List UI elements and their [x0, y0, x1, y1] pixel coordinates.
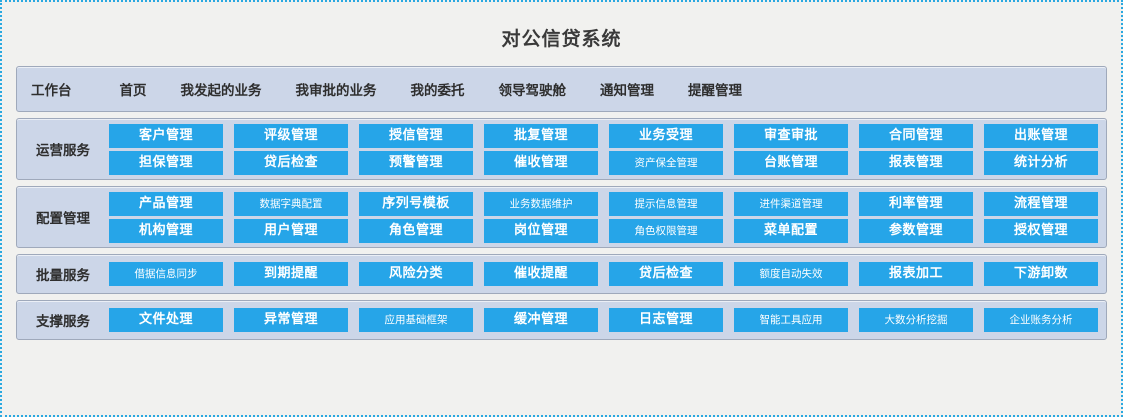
title-bar: 对公信贷系统 [16, 8, 1107, 66]
menu-button-2-6[interactable]: 报表加工 [859, 262, 973, 286]
section-panel-0: 运营服务客户管理评级管理授信管理批复管理业务受理审查审批合同管理出账管理担保管理… [16, 118, 1107, 180]
nav-item-6[interactable]: 通知管理 [600, 79, 654, 99]
menu-button-0-4[interactable]: 业务受理 [609, 124, 723, 148]
menu-button-1-15[interactable]: 授权管理 [984, 219, 1098, 243]
menu-button-0-11[interactable]: 催收管理 [484, 151, 598, 175]
application-frame: 对公信贷系统 工作台首页我发起的业务我审批的业务我的委托领导驾驶舱通知管理提醒管… [0, 0, 1123, 417]
menu-button-2-0[interactable]: 借据信息同步 [109, 262, 223, 286]
menu-button-0-14[interactable]: 报表管理 [859, 151, 973, 175]
section-label-0: 运营服务 [17, 139, 109, 159]
menu-button-0-5[interactable]: 审查审批 [734, 124, 848, 148]
menu-button-0-13[interactable]: 台账管理 [734, 151, 848, 175]
sections-container: 运营服务客户管理评级管理授信管理批复管理业务受理审查审批合同管理出账管理担保管理… [16, 118, 1107, 340]
nav-item-2[interactable]: 我发起的业务 [181, 79, 262, 99]
nav-item-7[interactable]: 提醒管理 [688, 79, 742, 99]
section-button-grid-2: 借据信息同步到期提醒风险分类催收提醒贷后检查额度自动失效报表加工下游卸数 [109, 262, 1098, 286]
menu-button-1-12[interactable]: 角色权限管理 [609, 219, 723, 243]
menu-button-1-13[interactable]: 菜单配置 [734, 219, 848, 243]
section-panel-3: 支撑服务文件处理异常管理应用基础框架缓冲管理日志管理智能工具应用大数分析挖掘企业… [16, 300, 1107, 340]
menu-button-3-2[interactable]: 应用基础框架 [359, 308, 473, 332]
menu-button-3-0[interactable]: 文件处理 [109, 308, 223, 332]
section-label-3: 支撑服务 [17, 310, 109, 330]
menu-button-0-6[interactable]: 合同管理 [859, 124, 973, 148]
menu-button-0-12[interactable]: 资产保全管理 [609, 151, 723, 175]
menu-button-3-1[interactable]: 异常管理 [234, 308, 348, 332]
menu-button-0-9[interactable]: 贷后检查 [234, 151, 348, 175]
menu-button-2-7[interactable]: 下游卸数 [984, 262, 1098, 286]
menu-button-1-3[interactable]: 业务数据维护 [484, 192, 598, 216]
section-label-1: 配置管理 [17, 207, 109, 227]
section-button-grid-3: 文件处理异常管理应用基础框架缓冲管理日志管理智能工具应用大数分析挖掘企业账务分析 [109, 308, 1098, 332]
menu-button-3-6[interactable]: 大数分析挖掘 [859, 308, 973, 332]
section-panel-1: 配置管理产品管理数据字典配置序列号模板业务数据维护提示信息管理进件渠道管理利率管… [16, 186, 1107, 248]
section-panel-2: 批量服务借据信息同步到期提醒风险分类催收提醒贷后检查额度自动失效报表加工下游卸数 [16, 254, 1107, 294]
menu-button-0-10[interactable]: 预警管理 [359, 151, 473, 175]
menu-button-1-10[interactable]: 角色管理 [359, 219, 473, 243]
menu-button-0-7[interactable]: 出账管理 [984, 124, 1098, 148]
nav-item-0[interactable]: 工作台 [31, 79, 72, 99]
menu-button-0-3[interactable]: 批复管理 [484, 124, 598, 148]
menu-button-2-3[interactable]: 催收提醒 [484, 262, 598, 286]
menu-button-1-2[interactable]: 序列号模板 [359, 192, 473, 216]
nav-item-4[interactable]: 我的委托 [411, 79, 465, 99]
menu-button-1-6[interactable]: 利率管理 [859, 192, 973, 216]
menu-button-2-1[interactable]: 到期提醒 [234, 262, 348, 286]
menu-button-0-1[interactable]: 评级管理 [234, 124, 348, 148]
menu-button-1-11[interactable]: 岗位管理 [484, 219, 598, 243]
section-button-grid-0: 客户管理评级管理授信管理批复管理业务受理审查审批合同管理出账管理担保管理贷后检查… [109, 124, 1098, 175]
menu-button-1-4[interactable]: 提示信息管理 [609, 192, 723, 216]
menu-button-2-4[interactable]: 贷后检查 [609, 262, 723, 286]
main-navigation-bar: 工作台首页我发起的业务我审批的业务我的委托领导驾驶舱通知管理提醒管理 [16, 66, 1107, 112]
nav-item-1[interactable]: 首页 [120, 79, 147, 99]
menu-button-1-5[interactable]: 进件渠道管理 [734, 192, 848, 216]
section-button-grid-1: 产品管理数据字典配置序列号模板业务数据维护提示信息管理进件渠道管理利率管理流程管… [109, 192, 1098, 243]
section-label-2: 批量服务 [17, 264, 109, 284]
menu-button-3-5[interactable]: 智能工具应用 [734, 308, 848, 332]
menu-button-1-1[interactable]: 数据字典配置 [234, 192, 348, 216]
menu-button-1-0[interactable]: 产品管理 [109, 192, 223, 216]
menu-button-1-14[interactable]: 参数管理 [859, 219, 973, 243]
menu-button-0-15[interactable]: 统计分析 [984, 151, 1098, 175]
menu-button-3-7[interactable]: 企业账务分析 [984, 308, 1098, 332]
menu-button-3-3[interactable]: 缓冲管理 [484, 308, 598, 332]
menu-button-1-9[interactable]: 用户管理 [234, 219, 348, 243]
menu-button-1-7[interactable]: 流程管理 [984, 192, 1098, 216]
menu-button-1-8[interactable]: 机构管理 [109, 219, 223, 243]
menu-button-3-4[interactable]: 日志管理 [609, 308, 723, 332]
menu-button-0-0[interactable]: 客户管理 [109, 124, 223, 148]
menu-button-2-2[interactable]: 风险分类 [359, 262, 473, 286]
menu-button-0-8[interactable]: 担保管理 [109, 151, 223, 175]
nav-item-5[interactable]: 领导驾驶舱 [499, 79, 567, 99]
nav-item-3[interactable]: 我审批的业务 [296, 79, 377, 99]
menu-button-2-5[interactable]: 额度自动失效 [734, 262, 848, 286]
menu-button-0-2[interactable]: 授信管理 [359, 124, 473, 148]
page-title: 对公信贷系统 [501, 24, 621, 51]
